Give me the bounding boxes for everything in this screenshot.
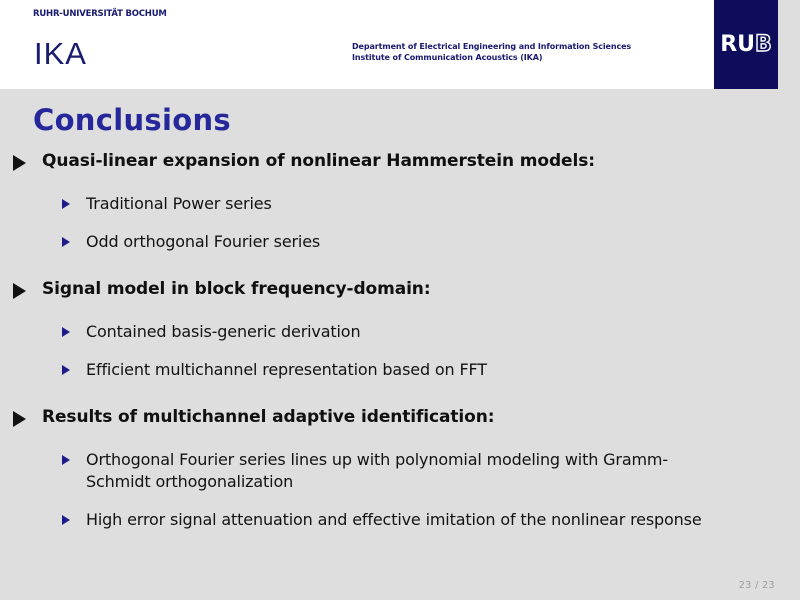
spacer — [0, 215, 800, 231]
ika-logo: IKA — [34, 38, 87, 69]
triangle-bullet-icon — [13, 411, 26, 427]
bullet-level2-label: Orthogonal Fourier series lines up with … — [86, 450, 668, 491]
department-block: Department of Electrical Engineering and… — [352, 42, 631, 63]
rub-logo-text-bold: RU — [720, 32, 755, 57]
bullet-level1-label: Results of multichannel adaptive identif… — [42, 407, 494, 427]
rub-logo-text-outline: B — [755, 32, 772, 57]
rub-logo-text: RUB — [714, 0, 778, 89]
spacer — [0, 381, 800, 406]
spacer — [0, 172, 800, 193]
bullet-level2-label: Traditional Power series — [86, 194, 272, 213]
triangle-bullet-icon — [13, 283, 26, 299]
bullet-level2: Contained basis-generic derivation — [0, 321, 800, 343]
department-line-1: Department of Electrical Engineering and… — [352, 42, 631, 53]
spacer — [0, 343, 800, 359]
triangle-sub-bullet-icon — [62, 515, 70, 525]
university-name: RUHR-UNIVERSITÄT BOCHUM — [33, 9, 167, 19]
bullet-level2-label: Odd orthogonal Fourier series — [86, 232, 320, 251]
page-number: 23 / 23 — [739, 580, 775, 591]
bullet-level2: Efficient multichannel representation ba… — [0, 359, 800, 381]
triangle-sub-bullet-icon — [62, 365, 70, 375]
spacer — [0, 253, 800, 278]
triangle-sub-bullet-icon — [62, 327, 70, 337]
bullet-level1: Signal model in block frequency-domain: — [0, 278, 800, 300]
bullet-level1: Quasi-linear expansion of nonlinear Hamm… — [0, 150, 800, 172]
bullet-level2: Orthogonal Fourier series lines up with … — [0, 449, 800, 493]
spacer — [0, 493, 800, 509]
bullet-level1: Results of multichannel adaptive identif… — [0, 406, 800, 428]
triangle-bullet-icon — [13, 155, 26, 171]
bullet-level2: Traditional Power series — [0, 193, 800, 215]
bullet-list: Quasi-linear expansion of nonlinear Hamm… — [0, 150, 800, 531]
bullet-level2-label: High error signal attenuation and effect… — [86, 510, 702, 529]
triangle-sub-bullet-icon — [62, 237, 70, 247]
bullet-level2-label: Efficient multichannel representation ba… — [86, 360, 487, 379]
bullet-level1-label: Signal model in block frequency-domain: — [42, 279, 431, 299]
bullet-level2: Odd orthogonal Fourier series — [0, 231, 800, 253]
rub-logo: RUB — [714, 0, 778, 89]
triangle-sub-bullet-icon — [62, 455, 70, 465]
department-line-2: Institute of Communication Acoustics (IK… — [352, 53, 631, 64]
triangle-sub-bullet-icon — [62, 199, 70, 209]
bullet-level1-label: Quasi-linear expansion of nonlinear Hamm… — [42, 151, 595, 171]
slide-canvas: RUHR-UNIVERSITÄT BOCHUM IKA Department o… — [0, 0, 800, 600]
page-title: Conclusions — [33, 103, 231, 137]
slide-header: RUHR-UNIVERSITÄT BOCHUM IKA Department o… — [0, 0, 778, 89]
bullet-level2-label: Contained basis-generic derivation — [86, 322, 360, 341]
spacer — [0, 428, 800, 449]
spacer — [0, 300, 800, 321]
bullet-level2: High error signal attenuation and effect… — [0, 509, 800, 531]
